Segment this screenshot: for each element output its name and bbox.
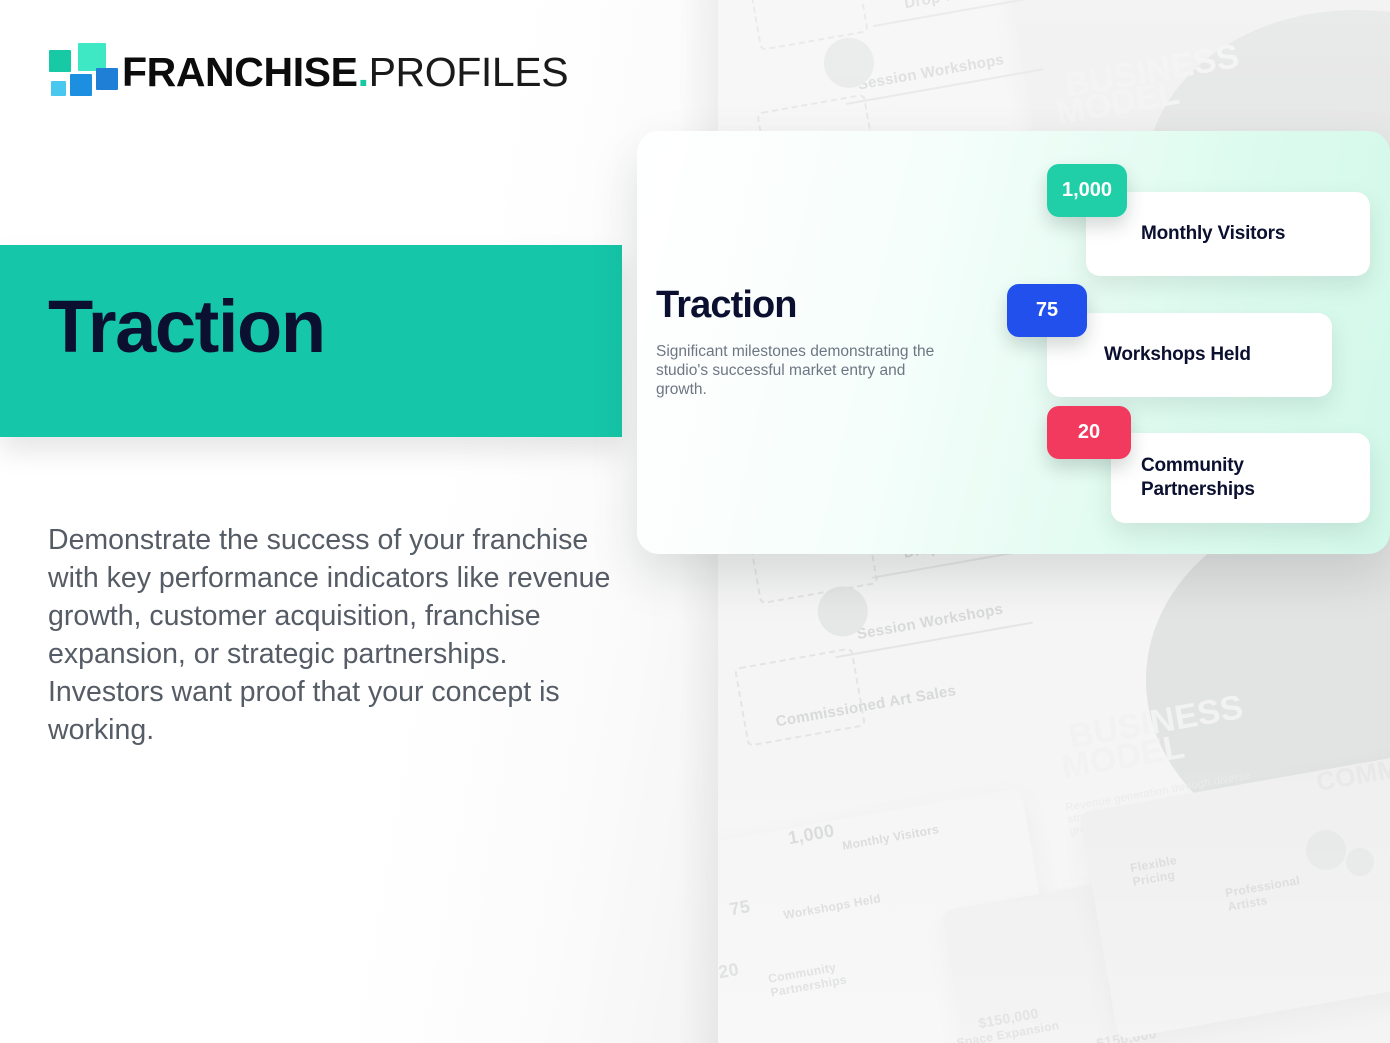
page-title: Traction bbox=[48, 290, 325, 364]
bg-ghost-text: BUSINESS bbox=[1066, 688, 1246, 757]
bg-ghost-text: 20 bbox=[717, 959, 741, 983]
bg-ghost-badge-icon bbox=[814, 582, 872, 640]
bg-ghost-text: $150,000 bbox=[1095, 1025, 1158, 1043]
bg-ghost-blob bbox=[1146, 500, 1390, 860]
metric-label: Community Partnerships bbox=[1141, 454, 1291, 502]
card-title: Traction bbox=[656, 286, 976, 324]
bg-ghost-text: 75 bbox=[728, 896, 752, 920]
slide-canvas: Drop-In Fees Session Workshops Commissio… bbox=[0, 0, 1390, 1043]
metric-value-badge[interactable]: 1,000 bbox=[1047, 164, 1127, 217]
bg-ghost-text: Community Partnerships bbox=[767, 953, 880, 1000]
bg-ghost-text: MODEL bbox=[1054, 74, 1183, 134]
section-title-band: Traction bbox=[0, 245, 622, 437]
bg-ghost-text: 1,000 bbox=[786, 820, 835, 849]
brand-dot: . bbox=[358, 49, 369, 95]
bg-ghost-rule bbox=[846, 68, 1043, 105]
bg-ghost-text: Monthly Visitors bbox=[841, 822, 940, 853]
metric-label-panel[interactable]: Community Partnerships bbox=[1111, 433, 1370, 523]
bg-ghost-text: COMM bbox=[1314, 753, 1390, 798]
bg-ghost-text: Professional Artists bbox=[1224, 874, 1298, 914]
metric-value: 1,000 bbox=[1062, 179, 1112, 202]
bg-ghost-text: Revenue generation through diverse strea… bbox=[1065, 762, 1298, 837]
metric-value: 20 bbox=[1078, 421, 1100, 444]
card-subtitle: Significant milestones demonstrating the… bbox=[656, 342, 956, 399]
bg-ghost-text: Workshops Held bbox=[782, 891, 882, 922]
bg-ghost-text: BUSINESS bbox=[1062, 37, 1242, 106]
bg-ghost-gear-icon bbox=[1346, 848, 1374, 876]
bg-ghost-badge-icon bbox=[820, 34, 878, 92]
brand-name-bold: FRANCHISE bbox=[122, 49, 358, 95]
bg-ghost-text: MODEL bbox=[1059, 728, 1188, 788]
brand-logo[interactable]: FRANCHISE.PROFILES bbox=[48, 41, 568, 103]
card-text-block: Traction Significant milestones demonstr… bbox=[656, 286, 976, 399]
bg-ghost-text: Drop-In Fees bbox=[903, 0, 1000, 12]
bg-ghost-frame bbox=[734, 647, 866, 747]
bg-ghost-text: $150,000 bbox=[977, 1005, 1040, 1031]
bg-ghost-text: Securing investment to scale our operati… bbox=[1103, 949, 1296, 1014]
bg-ghost-gear-icon bbox=[1306, 830, 1346, 870]
traction-preview-card: Traction Significant milestones demonstr… bbox=[637, 131, 1390, 554]
metric-label-panel[interactable]: Monthly Visitors bbox=[1086, 192, 1370, 276]
bg-ghost-text: FUNDRAISING bbox=[1115, 921, 1337, 994]
bg-ghost-rule bbox=[873, 0, 1070, 27]
bg-ghost-text: Session Workshops bbox=[856, 51, 1005, 93]
bg-ghost-rule bbox=[835, 622, 1032, 659]
bg-ghost-text: Session Workshops bbox=[856, 601, 1005, 643]
brand-name-thin: PROFILES bbox=[369, 49, 569, 95]
section-description: Demonstrate the success of your franchis… bbox=[48, 521, 626, 749]
bg-ghost-text: Space Expansion bbox=[956, 1018, 1061, 1043]
bg-sheet-traction bbox=[716, 788, 1083, 1043]
metric-label: Monthly Visitors bbox=[1141, 222, 1285, 246]
brand-wordmark: FRANCHISE.PROFILES bbox=[122, 52, 568, 93]
bg-ghost-text: Commissioned Art Sales bbox=[775, 682, 958, 730]
metric-label-panel[interactable]: Workshops Held bbox=[1047, 313, 1332, 397]
metric-value-badge[interactable]: 75 bbox=[1007, 284, 1087, 337]
bg-sheet-fundraising bbox=[942, 814, 1390, 1043]
metric-value: 75 bbox=[1036, 299, 1058, 322]
metric-label: Workshops Held bbox=[1104, 343, 1251, 367]
bg-ghost-text: Flexible Pricing bbox=[1129, 849, 1203, 889]
bg-sheet-features bbox=[1079, 750, 1390, 1039]
bg-ghost-frame bbox=[747, 0, 869, 51]
metric-value-badge[interactable]: 20 bbox=[1047, 406, 1131, 459]
five-squares-logo-mark-icon bbox=[48, 41, 110, 103]
